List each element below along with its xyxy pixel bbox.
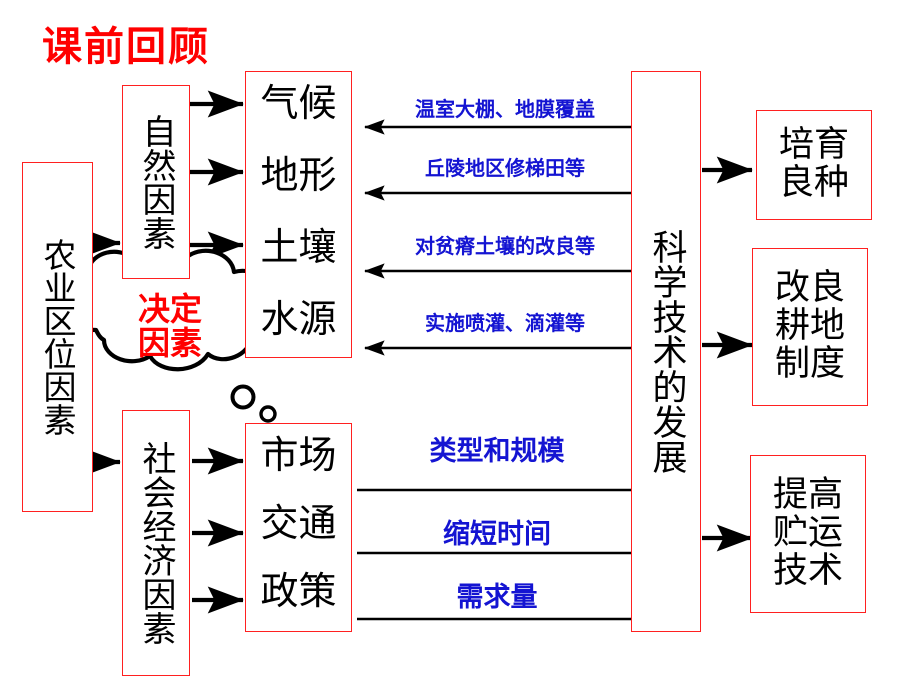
box-outcome-breeding-label: 培育 良种 — [757, 111, 871, 219]
box-outcome-storage-transport[interactable]: 提高 贮运 技术 — [750, 455, 866, 613]
box-socioeconomic-factors-label: 社会经济因素 — [123, 411, 189, 675]
diagram-canvas: 课前回顾 — [0, 0, 920, 690]
box-agricultural-location-factors-label: 农业区位因素 — [23, 163, 92, 511]
natural-measure-label-2: 对贫瘠土壤的改良等 — [380, 230, 630, 259]
socioeconomic-measure-label-1: 缩短时间 — [372, 512, 622, 551]
box-socioeconomic-factors[interactable]: 社会经济因素 — [122, 410, 190, 676]
socioeconomic-factor-item-2: 政策 — [246, 572, 351, 610]
natural-factor-item-3: 水源 — [246, 300, 351, 338]
box-outcome-farmland-system[interactable]: 改良 耕地 制度 — [752, 248, 868, 406]
box-natural-factors[interactable]: 自然因素 — [122, 85, 190, 279]
socioeconomic-factor-item-0: 市场 — [246, 436, 351, 474]
socioeconomic-measure-label-0: 类型和规模 — [372, 429, 622, 468]
natural-factor-item-0: 气候 — [246, 84, 351, 122]
socioeconomic-factor-item-1: 交通 — [246, 504, 351, 542]
natural-measure-label-1: 丘陵地区修梯田等 — [380, 152, 630, 181]
box-outcome-storage-transport-label: 提高 贮运 技术 — [751, 456, 865, 612]
cloud-decisive-factor-label: 决定 因素 — [110, 293, 230, 360]
box-technology-development-label: 科学技术的发展 — [632, 72, 700, 631]
box-outcome-farmland-system-label: 改良 耕地 制度 — [753, 249, 867, 405]
natural-factor-item-1: 地形 — [246, 156, 351, 194]
box-natural-factors-label: 自然因素 — [123, 86, 189, 278]
box-socioeconomic-factor-list[interactable]: 市场 交通 政策 — [245, 423, 352, 632]
box-natural-factor-list[interactable]: 气候 地形 土壤 水源 — [245, 71, 352, 358]
natural-measure-label-0: 温室大棚、地膜覆盖 — [380, 93, 630, 122]
socioeconomic-measure-label-2: 需求量 — [372, 575, 622, 614]
natural-factor-item-2: 土壤 — [246, 228, 351, 266]
natural-measure-label-3: 实施喷灌、滴灌等 — [380, 307, 630, 336]
page-title: 课前回顾 — [42, 14, 210, 72]
box-technology-development[interactable]: 科学技术的发展 — [631, 71, 701, 632]
box-agricultural-location-factors[interactable]: 农业区位因素 — [22, 162, 93, 512]
box-outcome-breeding[interactable]: 培育 良种 — [756, 110, 872, 220]
